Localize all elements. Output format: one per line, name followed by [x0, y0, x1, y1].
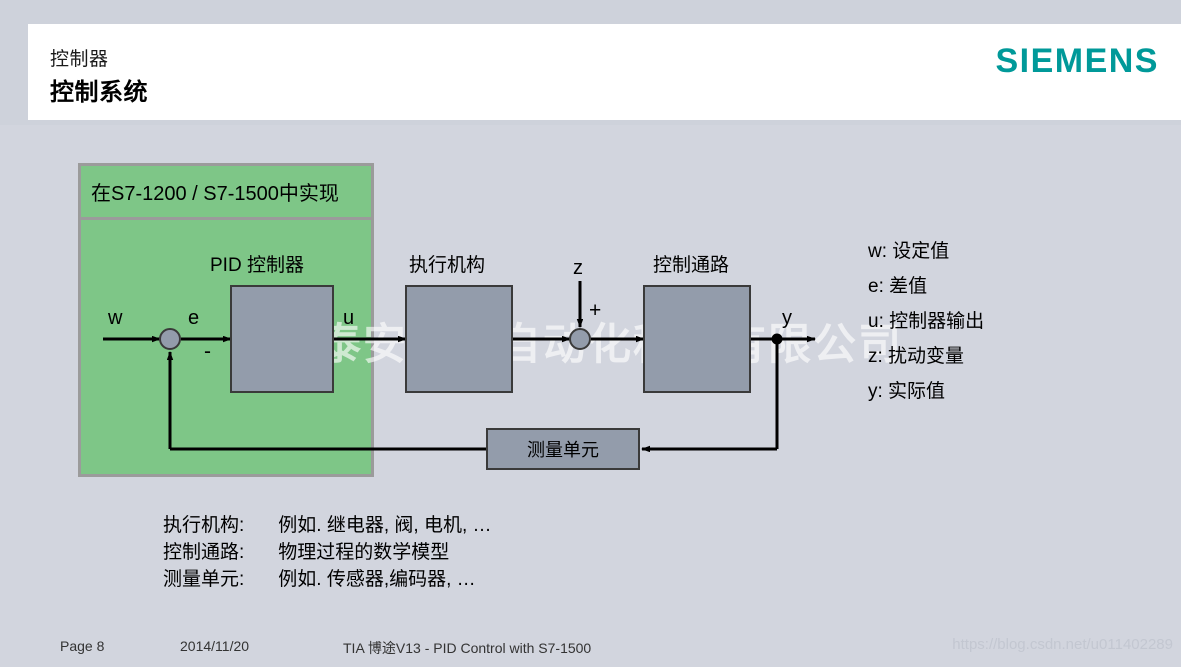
legend-item-z: z: 扰动变量 — [868, 339, 984, 374]
block-actuator — [405, 285, 513, 393]
signal-label-y: y — [782, 307, 792, 330]
note-term-measuring-unit: 测量单元: — [163, 566, 273, 593]
signal-label-e: e — [188, 307, 199, 330]
notes-list: 执行机构: 例如. 继电器, 阀, 电机, … 控制通路: 物理过程的数学模型 … — [163, 512, 492, 593]
summing-junction-disturbance — [569, 328, 591, 350]
note-desc-control-path: 物理过程的数学模型 — [278, 542, 449, 563]
note-row: 测量单元: 例如. 传感器,编码器, … — [163, 566, 492, 593]
block-control-path — [643, 285, 751, 393]
plc-region-label-text: 在S7-1200 / S7-1500中实现 — [91, 177, 339, 206]
summing-junction-error — [159, 328, 181, 350]
block-pid-controller — [230, 285, 334, 393]
block-measuring-unit-label: 测量单元 — [527, 436, 599, 462]
footer-document: TIA 博途V13 - PID Control with S7-1500 — [343, 638, 591, 658]
caption-actuator: 执行机构 — [409, 250, 485, 277]
note-row: 执行机构: 例如. 继电器, 阀, 电机, … — [163, 512, 492, 539]
note-desc-actuator: 例如. 继电器, 阀, 电机, … — [278, 515, 491, 536]
legend-item-u: u: 控制器输出 — [868, 304, 984, 339]
block-measuring-unit: 测量单元 — [486, 428, 640, 470]
caption-pid-controller: PID 控制器 — [210, 250, 304, 277]
signal-label-u: u — [343, 307, 354, 330]
note-term-control-path: 控制通路: — [163, 539, 273, 566]
sign-minus: - — [204, 340, 211, 364]
signal-label-w: w — [108, 307, 122, 330]
note-desc-measuring-unit: 例如. 传感器,编码器, … — [278, 569, 475, 590]
page-title: 控制系统 — [50, 72, 148, 107]
footer-page-number: Page 8 — [60, 638, 104, 654]
legend-item-e: e: 差值 — [868, 269, 984, 304]
signal-legend: w: 设定值 e: 差值 u: 控制器输出 z: 扰动变量 y: 实际值 — [868, 234, 984, 409]
caption-control-path: 控制通路 — [653, 250, 729, 277]
legend-item-w: w: 设定值 — [868, 234, 984, 269]
url-watermark: https://blog.csdn.net/u011402289 — [952, 636, 1173, 653]
siemens-logo: SIEMENS — [995, 42, 1159, 81]
legend-item-y: y: 实际值 — [868, 374, 984, 409]
signal-label-z: z — [573, 257, 583, 280]
header-subtitle: 控制器 — [50, 44, 109, 71]
footer-date: 2014/11/20 — [180, 638, 249, 654]
note-row: 控制通路: 物理过程的数学模型 — [163, 539, 492, 566]
sign-plus: + — [589, 299, 601, 323]
note-term-actuator: 执行机构: — [163, 512, 273, 539]
plc-region-label-box: 在S7-1200 / S7-1500中实现 — [78, 163, 374, 220]
